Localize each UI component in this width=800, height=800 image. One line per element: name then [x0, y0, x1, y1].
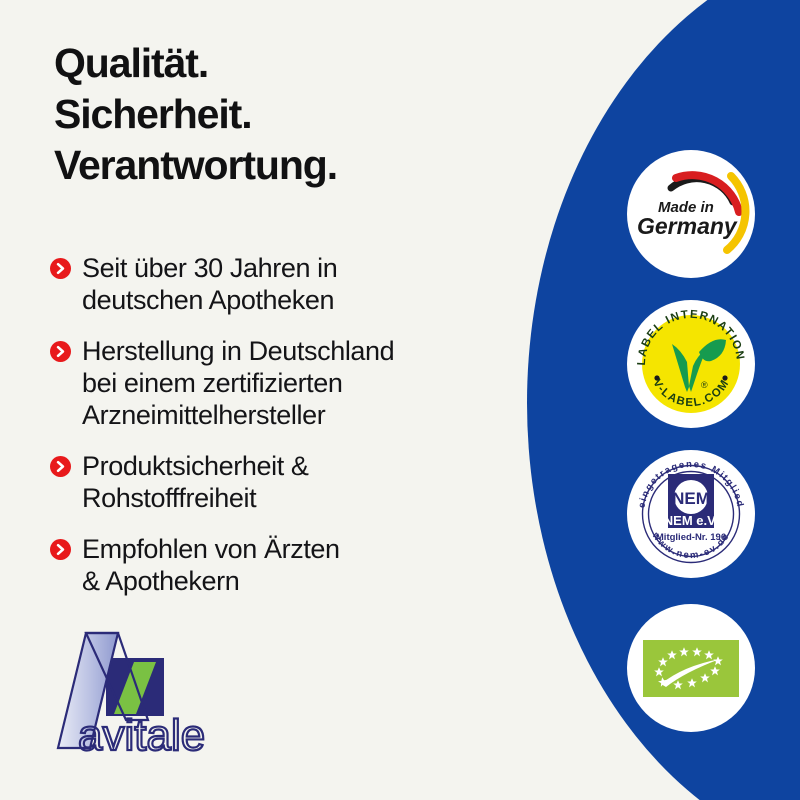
- registered-mark: ®: [701, 380, 708, 390]
- list-item: Seit über 30 Jahren in deutschen Apothek…: [50, 252, 520, 316]
- nem-badge: NEM NEM e.V. Mitglied-Nr. 196 eingetrage…: [627, 450, 755, 578]
- list-item-label: Produktsicherheit & Rohstofffreiheit: [82, 450, 309, 514]
- avitale-wordmark: avitale: [78, 711, 205, 760]
- list-item-line: Seit über 30 Jahren in: [82, 253, 337, 283]
- headline-line-3: Verantwortung.: [54, 140, 524, 191]
- list-item-line: Empfohlen von Ärzten: [82, 534, 340, 564]
- chevron-right-icon: [50, 456, 71, 477]
- list-item: Herstellung in Deutschland bei einem zer…: [50, 335, 520, 431]
- germany-label: Germany: [637, 213, 738, 239]
- headline-line-1: Qualität.: [54, 38, 524, 89]
- list-item-line: Produktsicherheit &: [82, 451, 309, 481]
- list-item-line: deutschen Apotheken: [82, 285, 334, 315]
- nem-org-label: NEM e.V.: [664, 513, 718, 528]
- headline-line-2: Sicherheit.: [54, 89, 524, 140]
- banner-canvas: Qualität. Sicherheit. Verantwortung. Sei…: [0, 0, 800, 800]
- list-item-line: Rohstofffreiheit: [82, 483, 256, 513]
- list-item-line: & Apothekern: [82, 566, 239, 596]
- nem-mark: NEM: [672, 489, 710, 508]
- list-item-label: Empfohlen von Ärzten & Apothekern: [82, 533, 340, 597]
- list-item-label: Herstellung in Deutschland bei einem zer…: [82, 335, 394, 431]
- list-item-line: Herstellung in Deutschland: [82, 336, 394, 366]
- page-title: Qualität. Sicherheit. Verantwortung.: [54, 38, 524, 191]
- chevron-right-icon: [50, 539, 71, 560]
- made-in-germany-badge: Made in Germany: [627, 150, 755, 278]
- list-item-line: Arzneimittelhersteller: [82, 400, 325, 430]
- v-label-badge: V-LABEL INTERNATIONAL V-LABEL.COM ®: [627, 300, 755, 428]
- avitale-logo: avitale: [50, 628, 240, 768]
- chevron-right-icon: [50, 341, 71, 362]
- list-item: Produktsicherheit & Rohstofffreiheit: [50, 450, 520, 514]
- list-item: Empfohlen von Ärzten & Apothekern: [50, 533, 520, 597]
- list-item-line: bei einem zertifizierten: [82, 368, 343, 398]
- eu-organic-badge: [627, 604, 755, 732]
- chevron-right-icon: [50, 258, 71, 279]
- list-item-label: Seit über 30 Jahren in deutschen Apothek…: [82, 252, 337, 316]
- benefits-list: Seit über 30 Jahren in deutschen Apothek…: [50, 252, 520, 616]
